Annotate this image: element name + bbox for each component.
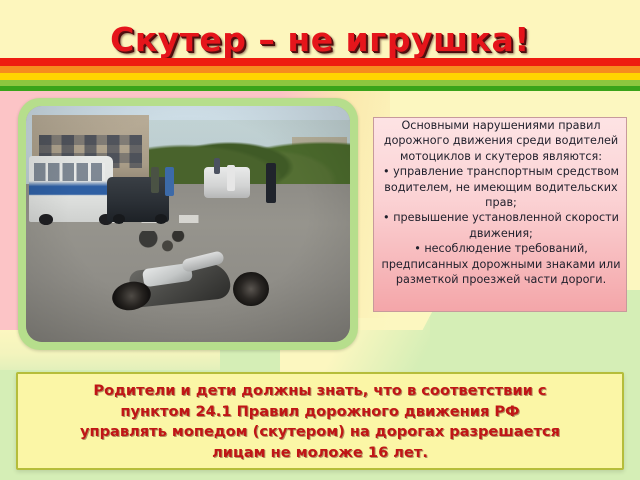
violations-bullet-1: • управление транспортным средством води…	[371, 164, 631, 210]
page-title: Скутер – не игрушка!	[0, 20, 640, 59]
callout-line-2: пунктом 24.1 Правил дорожного движения Р…	[16, 402, 624, 423]
violations-text: Основными нарушениями правил дорожного д…	[371, 118, 631, 287]
photo-vignette	[26, 106, 350, 342]
callout-line-4: лицам не моложе 16 лет.	[16, 443, 624, 464]
stripe-yellow	[0, 73, 640, 80]
violations-bullet-3: • несоблюдение требований, предписанных …	[371, 241, 631, 287]
accident-photo-card	[18, 98, 358, 350]
violations-bullet-2: • превышение установленной скорости движ…	[371, 210, 631, 241]
stripe-orange	[0, 66, 640, 73]
callout-line-3: управлять мопедом (скутером) на дорогах …	[16, 422, 624, 443]
slide-root: Скутер – не игрушка!	[0, 0, 640, 480]
stripe-red	[0, 58, 640, 66]
violations-intro: Основными нарушениями правил дорожного д…	[371, 118, 631, 164]
callout-line-1: Родители и дети должны знать, что в соот…	[16, 381, 624, 402]
stripe-green	[0, 86, 640, 91]
rules-callout-text: Родители и дети должны знать, что в соот…	[16, 381, 624, 463]
accident-photo	[26, 106, 350, 342]
